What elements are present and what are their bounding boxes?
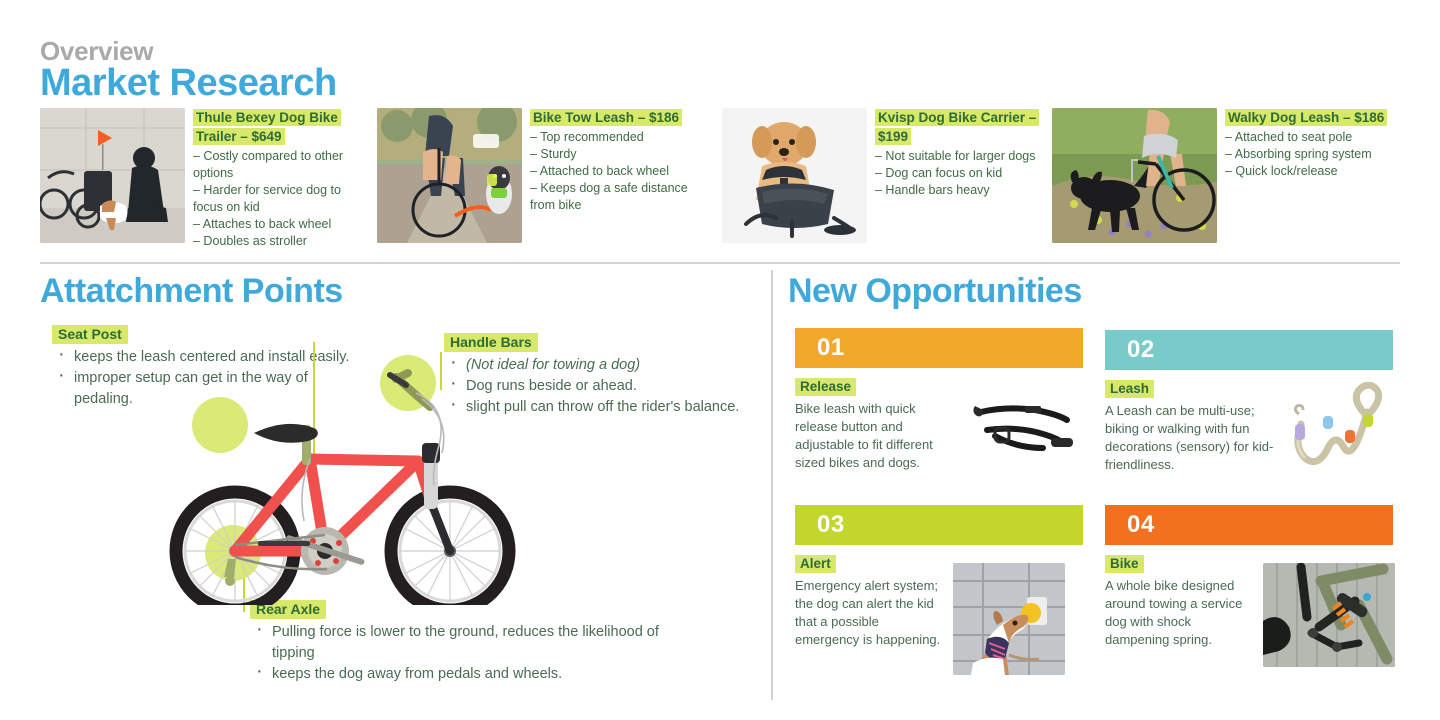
attachment-points-title: Attatchment Points bbox=[40, 272, 343, 311]
opportunity-number: 01 bbox=[817, 334, 845, 362]
opportunity-tag: Bike bbox=[1105, 555, 1144, 573]
product-text: Kvisp Dog Bike Carrier – $199 – Not suit… bbox=[875, 108, 1050, 243]
opportunity-image-suspension-bike-frame bbox=[1263, 563, 1395, 667]
product-title: Thule Bexey Dog Bike Trailer – $649 bbox=[193, 108, 368, 146]
opportunity-card-01: 01 Release Bike leash with quick release… bbox=[795, 328, 1083, 472]
product-image-walky-dog bbox=[1052, 108, 1217, 243]
product-bullet: – Doubles as stroller bbox=[193, 233, 368, 250]
opportunity-card-02: 02 Leash A Leash can be multi-use; bikin… bbox=[1105, 330, 1393, 482]
product-card: Walky Dog Leash – $186 – Attached to sea… bbox=[1052, 108, 1415, 243]
product-bullet: – Harder for service dog to focus on kid bbox=[193, 182, 368, 216]
product-card: Kvisp Dog Bike Carrier – $199 – Not suit… bbox=[722, 108, 1050, 243]
opportunity-card-04: 04 Bike A whole bike designed around tow… bbox=[1105, 505, 1393, 667]
product-image-trailer bbox=[40, 108, 185, 243]
opportunity-text: Leash A Leash can be multi-use; biking o… bbox=[1105, 380, 1275, 482]
product-bullets: – Not suitable for larger dogs – Dog can… bbox=[875, 148, 1050, 199]
product-bullet: – Keeps dog a safe distance from bike bbox=[530, 180, 705, 214]
opportunity-description: A whole bike designed around towing a se… bbox=[1105, 577, 1255, 649]
opportunity-body: Bike A whole bike designed around towing… bbox=[1105, 545, 1393, 667]
product-bullet: – Dog can focus on kid bbox=[875, 165, 1050, 182]
attachment-bullet: keeps the dog away from pedals and wheel… bbox=[250, 664, 670, 685]
opportunity-body: Alert Emergency alert system; the dog ca… bbox=[795, 545, 1083, 675]
slide-canvas: Overview Market Research bbox=[0, 0, 1440, 720]
page-title: Market Research bbox=[40, 62, 337, 105]
opportunity-header: 04 bbox=[1105, 505, 1393, 545]
attachment-label: Seat Post bbox=[52, 325, 128, 344]
product-image-carrier bbox=[722, 108, 867, 243]
opportunity-number: 02 bbox=[1127, 336, 1155, 364]
product-bullet: – Attached to back wheel bbox=[530, 163, 705, 180]
attachment-bullet: Pulling force is lower to the ground, re… bbox=[250, 622, 670, 664]
attachment-label: Handle Bars bbox=[444, 333, 538, 352]
opportunity-tag: Leash bbox=[1105, 380, 1154, 398]
product-text: Walky Dog Leash – $186 – Attached to sea… bbox=[1225, 108, 1415, 243]
product-text: Bike Tow Leash – $186 – Top recommended … bbox=[530, 108, 705, 243]
product-title: Bike Tow Leash – $186 bbox=[530, 108, 705, 127]
opportunity-tag: Release bbox=[795, 378, 856, 396]
opportunity-image-decorated-rope-leash bbox=[1283, 382, 1393, 482]
product-bullet: – Absorbing spring system bbox=[1225, 146, 1415, 163]
opportunity-description: Emergency alert system; the dog can aler… bbox=[795, 577, 945, 649]
opportunity-header: 03 bbox=[795, 505, 1083, 545]
product-bullet: – Sturdy bbox=[530, 146, 705, 163]
product-bullet: – Costly compared to other options bbox=[193, 148, 368, 182]
product-bullet: – Not suitable for larger dogs bbox=[875, 148, 1050, 165]
product-card: Bike Tow Leash – $186 – Top recommended … bbox=[377, 108, 705, 243]
product-text: Thule Bexey Dog Bike Trailer – $649 – Co… bbox=[193, 108, 368, 250]
opportunity-image-dog-alert-button bbox=[953, 563, 1065, 675]
opportunity-card-03: 03 Alert Emergency alert system; the dog… bbox=[795, 505, 1083, 675]
product-bullet: – Top recommended bbox=[530, 129, 705, 146]
new-opportunities-title: New Opportunities bbox=[788, 272, 1082, 311]
product-bullets: – Top recommended – Sturdy – Attached to… bbox=[530, 129, 705, 214]
product-bullet: – Quick lock/release bbox=[1225, 163, 1415, 180]
product-title: Kvisp Dog Bike Carrier – $199 bbox=[875, 108, 1050, 146]
opportunity-image-black-bike-leash bbox=[965, 392, 1083, 462]
opportunity-tag: Alert bbox=[795, 555, 836, 573]
product-image-tow-leash bbox=[377, 108, 522, 243]
opportunity-header: 02 bbox=[1105, 330, 1393, 370]
attachment-point-rear-axle: Rear Axle Pulling force is lower to the … bbox=[250, 600, 670, 685]
opportunity-number: 04 bbox=[1127, 511, 1155, 539]
opportunity-text: Alert Emergency alert system; the dog ca… bbox=[795, 555, 945, 675]
opportunity-body: Leash A Leash can be multi-use; biking o… bbox=[1105, 370, 1393, 482]
opportunity-description: Bike leash with quick release button and… bbox=[795, 400, 957, 472]
opportunity-text: Release Bike leash with quick release bu… bbox=[795, 378, 957, 472]
opportunity-number: 03 bbox=[817, 511, 845, 539]
product-bullets: – Costly compared to other options – Har… bbox=[193, 148, 368, 250]
product-bullet: – Handle bars heavy bbox=[875, 182, 1050, 199]
opportunity-body: Release Bike leash with quick release bu… bbox=[795, 368, 1083, 472]
column-divider bbox=[771, 270, 773, 700]
section-divider bbox=[40, 262, 1400, 264]
product-bullets: – Attached to seat pole – Absorbing spri… bbox=[1225, 129, 1415, 180]
opportunity-text: Bike A whole bike designed around towing… bbox=[1105, 555, 1255, 667]
opportunity-header: 01 bbox=[795, 328, 1083, 368]
product-bullet: – Attached to seat pole bbox=[1225, 129, 1415, 146]
attachment-bullets: Pulling force is lower to the ground, re… bbox=[250, 622, 670, 685]
opportunity-description: A Leash can be multi-use; biking or walk… bbox=[1105, 402, 1275, 474]
red-hybrid-bike-illustration bbox=[150, 355, 560, 605]
product-card: Thule Bexey Dog Bike Trailer – $649 – Co… bbox=[40, 108, 368, 250]
product-title: Walky Dog Leash – $186 bbox=[1225, 108, 1415, 127]
product-bullet: – Attaches to back wheel bbox=[193, 216, 368, 233]
